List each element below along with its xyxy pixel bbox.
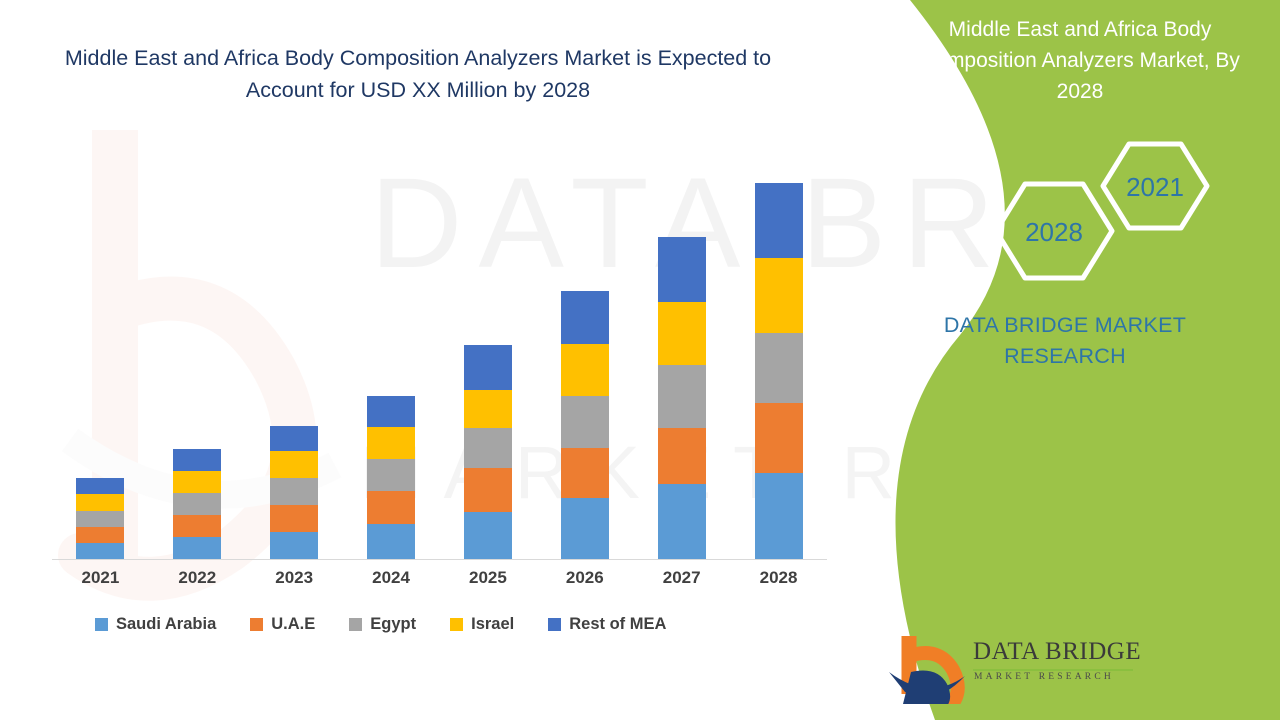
bar-segment-u-a-e bbox=[561, 448, 609, 498]
bar-column-2023 bbox=[247, 170, 342, 559]
green-side-panel: Middle East and Africa Body Composition … bbox=[840, 0, 1280, 720]
stacked-bar bbox=[755, 183, 803, 559]
bar-column-2028 bbox=[731, 170, 826, 559]
bar-segment-rest-of-mea bbox=[755, 183, 803, 258]
legend-label: Saudi Arabia bbox=[116, 615, 216, 634]
legend-label: Egypt bbox=[370, 615, 416, 634]
bar-segment-egypt bbox=[755, 333, 803, 403]
bar-segment-egypt bbox=[270, 478, 318, 505]
slide-root: DATA BRIDGE MARKET RESEARCH Middle East … bbox=[0, 0, 1280, 720]
stacked-bar bbox=[561, 291, 609, 559]
bar-segment-rest-of-mea bbox=[76, 478, 124, 494]
hexagon-2021-label: 2021 bbox=[1126, 172, 1184, 202]
legend-item-egypt[interactable]: Egypt bbox=[349, 615, 416, 634]
x-axis-label-2027: 2027 bbox=[634, 568, 729, 588]
chart-baseline-axis bbox=[52, 559, 827, 560]
stacked-bar bbox=[367, 396, 415, 559]
legend-swatch-icon bbox=[548, 618, 561, 631]
bar-segment-saudi-arabia bbox=[367, 524, 415, 559]
legend-swatch-icon bbox=[349, 618, 362, 631]
bar-column-2022 bbox=[150, 170, 245, 559]
bar-segment-saudi-arabia bbox=[658, 484, 706, 559]
bar-segment-egypt bbox=[464, 428, 512, 468]
bar-segment-egypt bbox=[367, 459, 415, 491]
x-axis-labels: 20212022202320242025202620272028 bbox=[52, 568, 827, 588]
hexagon-2028-label: 2028 bbox=[1025, 217, 1083, 247]
legend-item-rest-of-mea[interactable]: Rest of MEA bbox=[548, 615, 666, 634]
bar-segment-saudi-arabia bbox=[464, 512, 512, 559]
bar-segment-u-a-e bbox=[270, 505, 318, 532]
x-axis-label-2028: 2028 bbox=[731, 568, 826, 588]
bar-segment-egypt bbox=[76, 511, 124, 527]
bar-segment-israel bbox=[367, 427, 415, 459]
bar-segment-u-a-e bbox=[173, 515, 221, 537]
stacked-bar bbox=[464, 345, 512, 559]
stacked-bar bbox=[76, 478, 124, 559]
bar-segment-saudi-arabia bbox=[270, 532, 318, 559]
logo-mark-icon bbox=[885, 632, 969, 704]
bar-chart-bars bbox=[52, 170, 827, 559]
x-axis-label-2022: 2022 bbox=[150, 568, 245, 588]
bar-segment-rest-of-mea bbox=[658, 237, 706, 302]
bar-column-2021 bbox=[53, 170, 148, 559]
bar-column-2025 bbox=[440, 170, 535, 559]
legend-swatch-icon bbox=[250, 618, 263, 631]
legend-item-u-a-e[interactable]: U.A.E bbox=[250, 615, 315, 634]
legend-label: Rest of MEA bbox=[569, 615, 666, 634]
brand-line-1: DATA BRIDGE MARKET bbox=[880, 310, 1250, 341]
bar-segment-u-a-e bbox=[658, 428, 706, 484]
bar-segment-egypt bbox=[561, 396, 609, 448]
legend-swatch-icon bbox=[95, 618, 108, 631]
bar-segment-u-a-e bbox=[464, 468, 512, 512]
legend-item-israel[interactable]: Israel bbox=[450, 615, 514, 634]
x-axis-label-2025: 2025 bbox=[440, 568, 535, 588]
bar-segment-israel bbox=[464, 390, 512, 428]
bar-segment-israel bbox=[561, 344, 609, 396]
green-panel-title: Middle East and Africa Body Composition … bbox=[900, 14, 1260, 107]
bar-segment-israel bbox=[76, 494, 124, 511]
hexagon-group: 2021 2028 bbox=[840, 138, 1280, 298]
bar-column-2024 bbox=[344, 170, 439, 559]
bar-segment-israel bbox=[755, 258, 803, 333]
chart-legend: Saudi ArabiaU.A.EEgyptIsraelRest of MEA bbox=[95, 615, 795, 634]
bar-segment-egypt bbox=[658, 365, 706, 428]
bar-segment-saudi-arabia bbox=[76, 543, 124, 559]
logo-divider bbox=[973, 669, 1133, 671]
bar-segment-rest-of-mea bbox=[270, 426, 318, 451]
x-axis-label-2023: 2023 bbox=[247, 568, 342, 588]
bar-segment-rest-of-mea bbox=[561, 291, 609, 344]
bar-segment-u-a-e bbox=[755, 403, 803, 473]
chart-title: Middle East and Africa Body Composition … bbox=[48, 42, 788, 106]
x-axis-label-2024: 2024 bbox=[344, 568, 439, 588]
legend-label: Israel bbox=[471, 615, 514, 634]
brand-name-text: DATA BRIDGE MARKET RESEARCH bbox=[880, 310, 1250, 372]
bar-segment-rest-of-mea bbox=[367, 396, 415, 427]
bar-segment-saudi-arabia bbox=[561, 498, 609, 559]
bar-segment-israel bbox=[270, 451, 318, 478]
legend-swatch-icon bbox=[450, 618, 463, 631]
x-axis-label-2021: 2021 bbox=[53, 568, 148, 588]
bar-segment-rest-of-mea bbox=[464, 345, 512, 390]
logo-wordmark: DATA BRIDGE bbox=[973, 638, 1141, 666]
bar-segment-u-a-e bbox=[367, 491, 415, 524]
bar-column-2026 bbox=[537, 170, 632, 559]
x-axis-label-2026: 2026 bbox=[537, 568, 632, 588]
legend-item-saudi-arabia[interactable]: Saudi Arabia bbox=[95, 615, 216, 634]
logo-subtitle: MARKET RESEARCH bbox=[974, 672, 1114, 682]
stacked-bar bbox=[173, 449, 221, 559]
data-bridge-logo: DATA BRIDGE MARKET RESEARCH bbox=[885, 632, 1145, 708]
bar-segment-israel bbox=[173, 471, 221, 493]
legend-label: U.A.E bbox=[271, 615, 315, 634]
stacked-bar bbox=[658, 237, 706, 559]
bar-column-2027 bbox=[634, 170, 729, 559]
bar-segment-saudi-arabia bbox=[755, 473, 803, 559]
stacked-bar bbox=[270, 426, 318, 559]
bar-segment-saudi-arabia bbox=[173, 537, 221, 559]
bar-segment-israel bbox=[658, 302, 706, 365]
bar-segment-rest-of-mea bbox=[173, 449, 221, 471]
brand-line-2: RESEARCH bbox=[880, 341, 1250, 372]
bar-segment-egypt bbox=[173, 493, 221, 515]
bar-segment-u-a-e bbox=[76, 527, 124, 543]
